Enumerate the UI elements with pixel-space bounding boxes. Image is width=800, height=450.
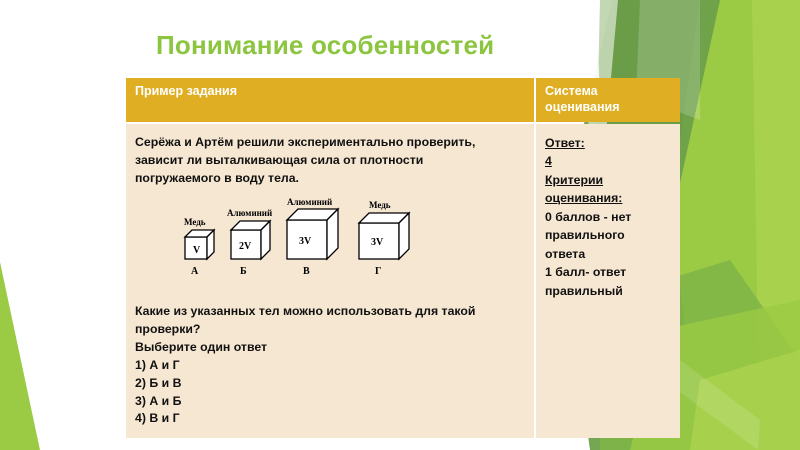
task-question-line2: проверки? [135,321,525,339]
scoring-zero-line1: 0 баллов - нет [545,208,671,226]
task-option-2[interactable]: 2) Б и В [135,375,525,393]
example-task-table: Пример задания Система оценивания Серёжа… [126,78,678,432]
cube-c [287,209,338,259]
scoring-answer-label: Ответ: [545,134,671,152]
cube-b-letter: Б [240,266,247,277]
scoring-zero-line3: ответа [545,245,671,263]
table-header-scoring-line2: оценивания [545,100,671,116]
scoring-cell: Ответ: 4 Критерии оценивания: 0 баллов -… [536,124,680,438]
scoring-one-line1: 1 балл- ответ [545,263,671,281]
task-intro-line1: Серёжа и Артём решили экспериментально п… [135,134,525,152]
cube-c-letter: В [303,266,310,277]
scoring-content: Ответ: 4 Критерии оценивания: 0 баллов -… [545,134,671,300]
task-options: 1) А и Г 2) Б и В 3) А и Б 4) В и Г [135,357,525,428]
cube-b-material: Алюминий [227,208,272,218]
scoring-one-line2: правильный [545,282,671,300]
cube-a-volume: V [193,245,201,256]
task-intro: Серёжа и Артём решили экспериментально п… [135,134,525,187]
cube-c-material: Алюминий [287,197,332,207]
task-option-3[interactable]: 3) А и Б [135,393,525,411]
page-title: Понимание особенностей [156,30,494,61]
cube-b-volume: 2V [239,241,252,252]
cubes-diagram-svg: Медь V А Алюминий 2V Б [177,197,429,279]
task-option-4[interactable]: 4) В и Г [135,410,525,428]
task-instruction: Выберите один ответ [135,339,525,357]
table-header-example: Пример задания [126,78,534,122]
cube-d [359,213,409,259]
task-question-line1: Какие из указанных тел можно использоват… [135,303,525,321]
task-intro-line2: зависит ли выталкивающая сила от плотнос… [135,152,525,170]
task-cell: Серёжа и Артём решили экспериментально п… [126,124,534,438]
scoring-criteria-line1: Критерии [545,171,671,189]
cube-d-volume: 3V [371,237,384,248]
scoring-criteria-line2: оценивания: [545,189,671,207]
cube-c-volume: 3V [299,236,312,247]
cube-d-letter: Г [375,266,381,277]
table-header-scoring: Система оценивания [536,78,680,122]
table-header-scoring-line1: Система [545,84,671,100]
cube-d-material: Медь [369,200,391,210]
cube-b [231,221,270,259]
task-intro-line3: погружаемого в воду тела. [135,170,525,188]
cube-a-material: Медь [184,217,206,227]
task-option-1[interactable]: 1) А и Г [135,357,525,375]
scoring-answer-value: 4 [545,152,671,170]
task-question: Какие из указанных тел можно использоват… [135,303,525,356]
scoring-zero-line2: правильного [545,226,671,244]
cubes-diagram: Медь V А Алюминий 2V Б [177,197,429,279]
cube-a-letter: А [191,266,199,277]
